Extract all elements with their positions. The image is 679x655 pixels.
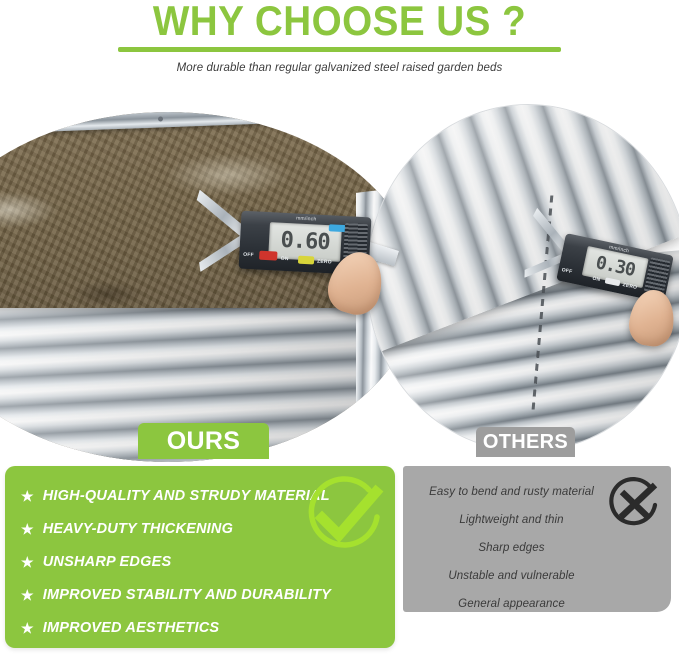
caliper-label-on: ON	[592, 275, 601, 283]
comparison-photo-stage: mm/inch 0.60 OFF ON ZERO mm/inch 0.30 OF	[0, 104, 679, 462]
caliper-label-on: ON	[281, 256, 289, 262]
page-title: WHY CHOOSE US ?	[27, 0, 652, 44]
header: WHY CHOOSE US ? More durable than regula…	[0, 0, 679, 100]
page-subtitle: More durable than regular galvanized ste…	[0, 62, 679, 74]
list-item: Unstable and vulnerable	[409, 562, 614, 590]
title-underline-rule	[118, 47, 561, 52]
caliper-reading-value: 0.60	[280, 230, 330, 255]
caliper-unit-label: mm/inch	[296, 216, 317, 223]
list-item: Sharp edges	[409, 534, 614, 562]
list-item-label: IMPROVED STABILITY AND DURABILITY	[43, 587, 331, 603]
list-item: Easy to bend and rusty material	[409, 478, 614, 506]
caliper-button-yellow	[297, 255, 314, 264]
tab-others[interactable]: OTHERS	[476, 427, 575, 457]
list-item: General appearance	[409, 590, 614, 618]
check-mark-icon	[301, 474, 387, 560]
tab-ours[interactable]: OURS	[138, 423, 269, 459]
star-icon: ★	[21, 555, 34, 569]
list-item: Lightweight and thin	[409, 506, 614, 534]
list-item-label: HIGH-QUALITY AND STRUDY MATERIAL	[43, 488, 330, 504]
caliper-button-red	[259, 251, 278, 260]
star-icon: ★	[21, 522, 34, 536]
list-item-label: HEAVY-DUTY THICKENING	[43, 521, 233, 537]
others-feature-list: Easy to bend and rusty material Lightwei…	[409, 478, 614, 618]
tab-others-label: OTHERS	[483, 431, 568, 454]
ours-feature-panel: ★ HIGH-QUALITY AND STRUDY MATERIAL ★ HEA…	[5, 466, 395, 648]
tab-ours-label: OURS	[167, 427, 240, 456]
star-icon: ★	[21, 489, 34, 503]
caliper-label-off: OFF	[243, 251, 254, 258]
caliper-label-off: OFF	[561, 267, 573, 275]
star-icon: ★	[21, 621, 34, 635]
rail-screw	[158, 116, 163, 121]
others-feature-panel: Easy to bend and rusty material Lightwei…	[403, 466, 671, 612]
cross-mark-icon	[605, 474, 663, 532]
list-item: ★ IMPROVED AESTHETICS	[21, 611, 385, 644]
list-item-label: IMPROVED AESTHETICS	[43, 620, 219, 636]
list-item: ★ IMPROVED STABILITY AND DURABILITY	[21, 578, 385, 611]
caliper-label-zero: ZERO	[317, 259, 332, 266]
list-item-label: UNSHARP EDGES	[43, 554, 172, 570]
star-icon: ★	[21, 588, 34, 602]
